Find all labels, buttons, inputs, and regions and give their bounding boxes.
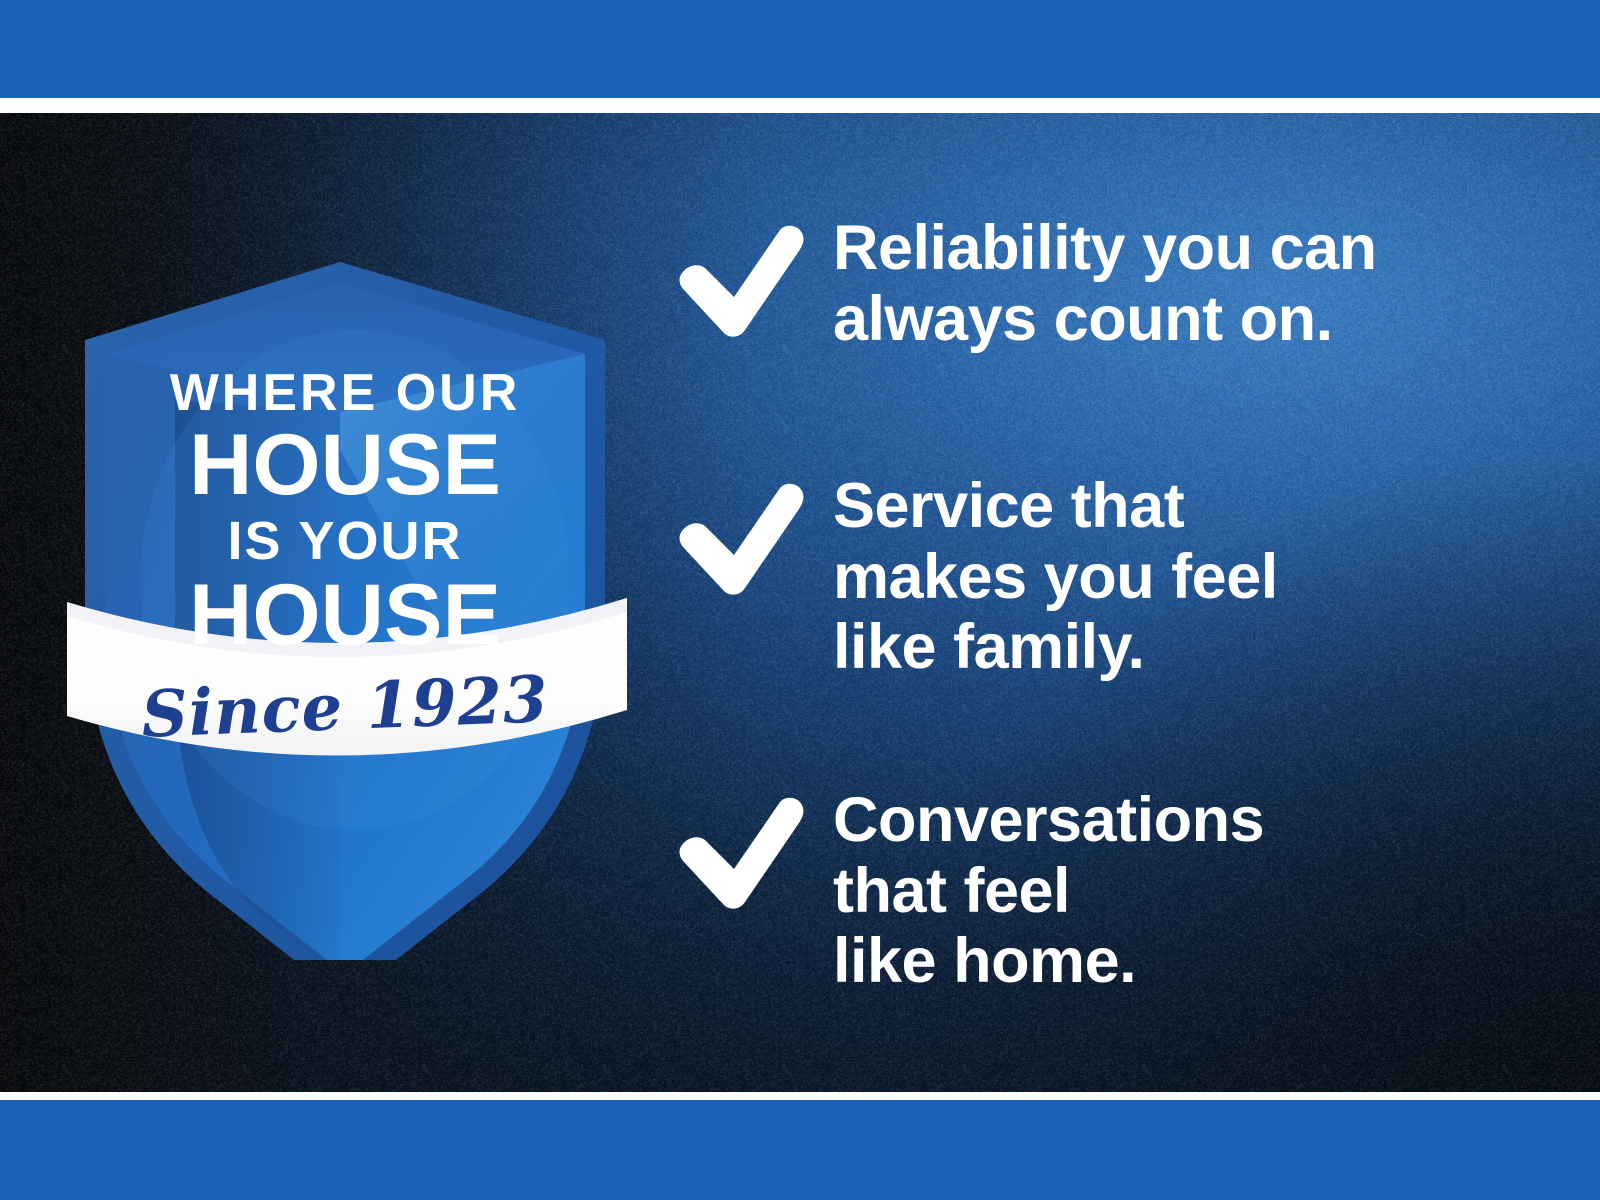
bottom-brand-bar	[0, 1100, 1600, 1200]
list-item-text: Conversations that feel like home.	[833, 785, 1553, 997]
badge-line-where-our: Where Our	[85, 367, 605, 419]
check-icon	[668, 221, 808, 341]
benefits-list: Reliability you can always count on. Ser…	[660, 113, 1560, 1092]
list-item-line: Conversations	[833, 785, 1553, 856]
list-item-text: Service that makes you feel like family.	[833, 471, 1553, 683]
list-item-text: Reliability you can always count on.	[833, 213, 1553, 354]
top-white-divider	[0, 98, 1600, 113]
bottom-white-divider	[0, 1092, 1600, 1100]
list-item-line: Reliability you can	[833, 213, 1553, 284]
top-brand-bar	[0, 0, 1600, 98]
list-item-line: that feel	[833, 856, 1553, 927]
list-item-line: makes you feel	[833, 542, 1553, 613]
badge-line-is-your: Is Your	[85, 514, 605, 568]
check-icon	[668, 479, 808, 599]
list-item-line: always count on.	[833, 284, 1553, 355]
list-item-line: Service that	[833, 471, 1553, 542]
shield-badge: Where Our House Is Your House Since 1923	[55, 150, 635, 960]
badge-line-house-1: House	[80, 422, 610, 508]
list-item-line: like home.	[833, 926, 1553, 997]
badge-line-house-2: House	[80, 572, 610, 658]
promo-graphic: Where Our House Is Your House Since 1923…	[0, 0, 1600, 1200]
list-item-line: like family.	[833, 612, 1553, 683]
check-icon	[668, 793, 808, 913]
